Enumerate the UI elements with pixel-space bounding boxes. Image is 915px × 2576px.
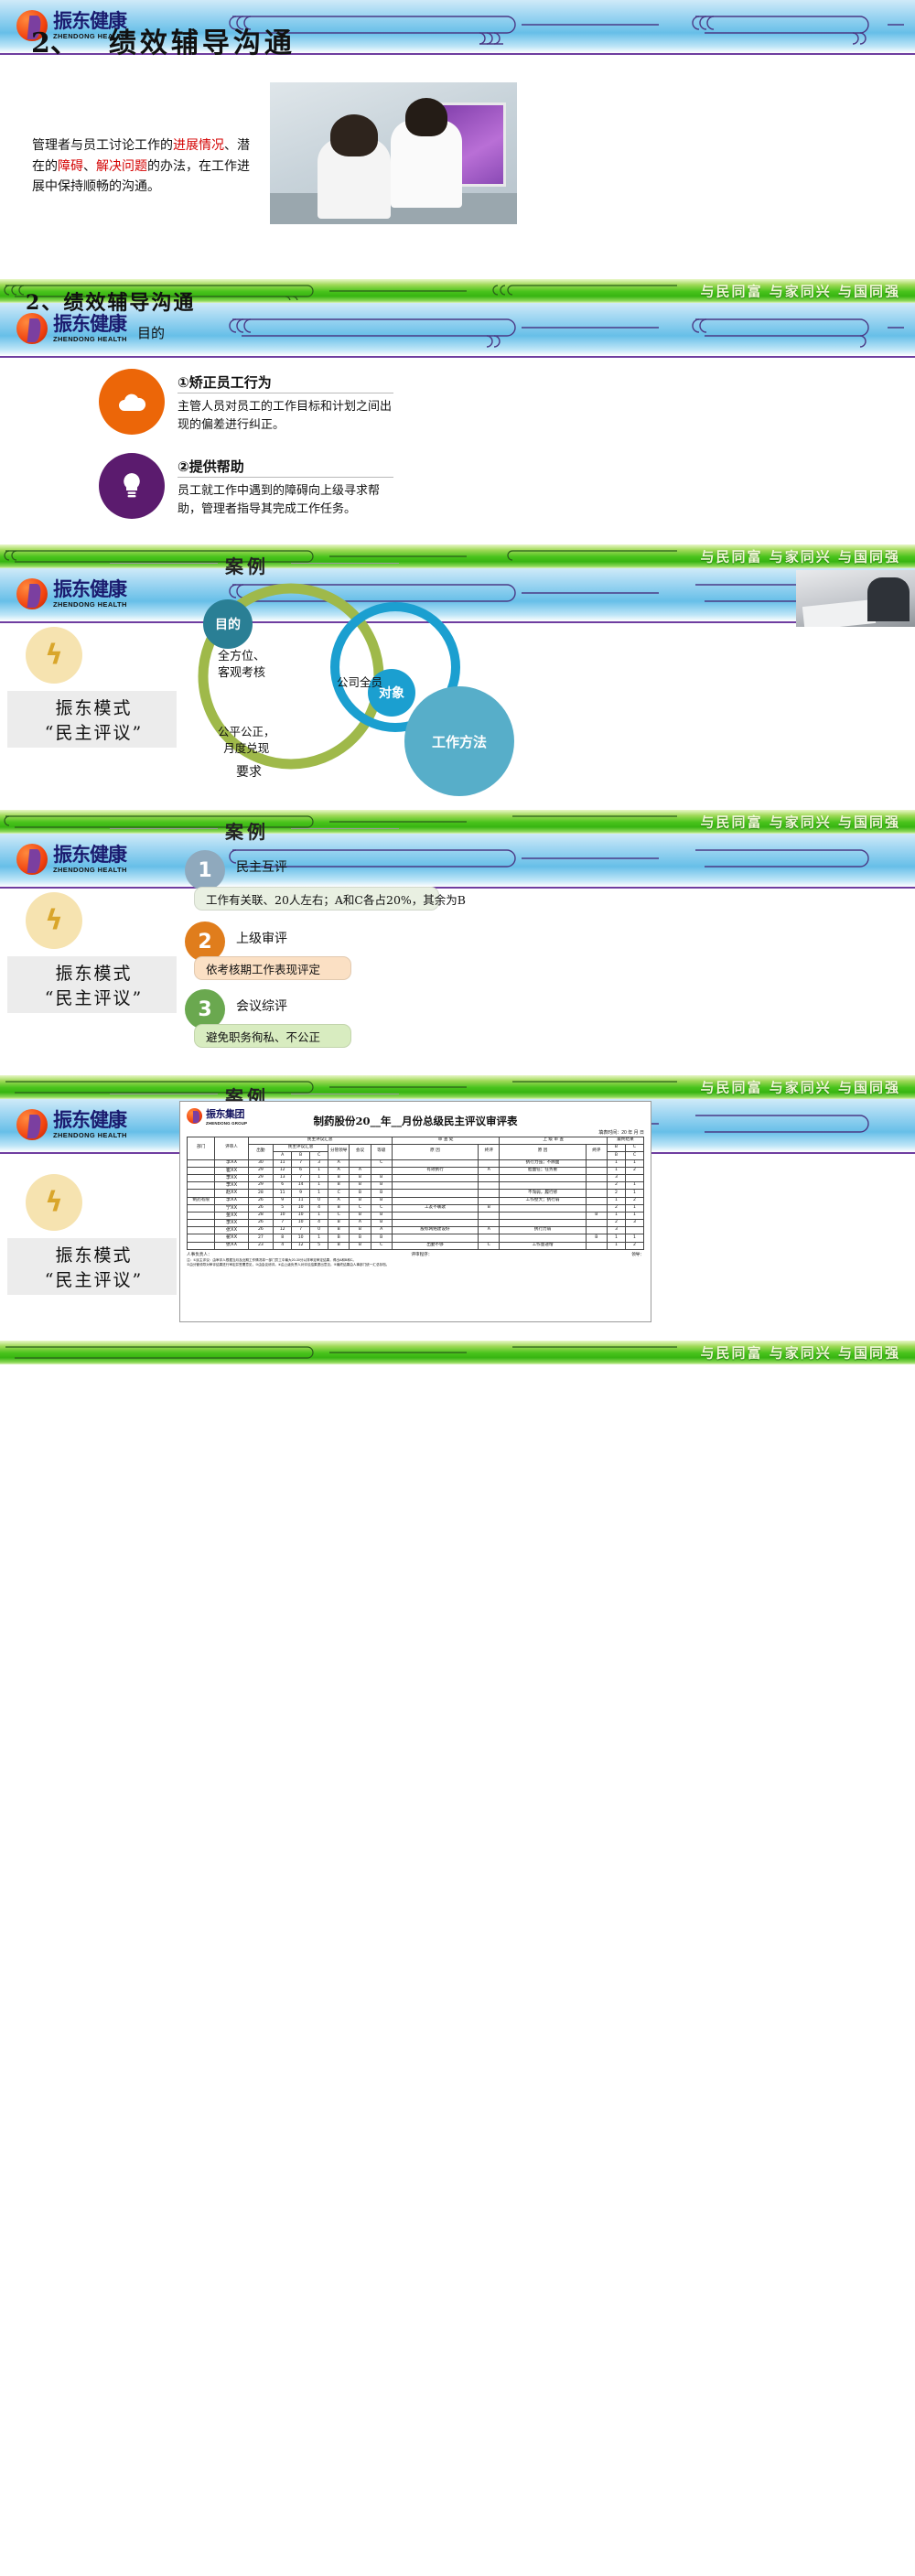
- form-logo-cn: 振东集团: [206, 1106, 247, 1121]
- cell-b: 10: [292, 1204, 310, 1212]
- cell-sup: [586, 1182, 607, 1190]
- slide-1: 振东健康 ZHENDONG HEALTH 2、绩效辅: [0, 0, 915, 279]
- logo-en-text: ZHENDONG HEALTH: [53, 1132, 127, 1139]
- cell-sup: B: [586, 1234, 607, 1242]
- person-back-shape: [391, 120, 462, 208]
- cell-h: B: [350, 1242, 371, 1249]
- cell-c: 3: [310, 1159, 328, 1167]
- cell-audit_reason: [392, 1174, 478, 1181]
- cell-sup: [586, 1242, 607, 1249]
- cell-f2: 1: [625, 1212, 643, 1219]
- cell-cat: B: [371, 1190, 392, 1197]
- th-group-final: 最终结果: [607, 1137, 643, 1145]
- th-dept: 部门: [188, 1137, 215, 1160]
- logo-en-text: ZHENDONG HEALTH: [53, 336, 127, 343]
- cell-f1: 1: [607, 1212, 625, 1219]
- cell-dept: [188, 1167, 215, 1174]
- cell-dept: [188, 1190, 215, 1197]
- th-name: 评审人: [215, 1137, 248, 1160]
- cell-att: 26: [248, 1197, 274, 1204]
- brand-slogan: 与民同富 与家同兴 与国同强: [701, 1343, 900, 1363]
- form-title: 制药股份20__年__月份总级民主评议审评表: [187, 1114, 644, 1128]
- th-final-c: C: [625, 1145, 643, 1152]
- item2-circle: [99, 453, 165, 519]
- cell-c: 0: [310, 1227, 328, 1234]
- method-bubble: 工作方法: [404, 686, 514, 796]
- cell-sup_reason: 胆面任；任务重: [500, 1167, 586, 1174]
- cell-f1: 2: [607, 1190, 625, 1197]
- cell-sup_reason: [500, 1234, 586, 1242]
- cell-audit_reason: 股标网络建设好: [392, 1227, 478, 1234]
- cell-c: 1: [310, 1174, 328, 1181]
- cell-c: 5: [310, 1242, 328, 1249]
- cell-dept: [188, 1204, 215, 1212]
- cell-sup_reason: 不淘弱，履行修: [500, 1190, 586, 1197]
- table-row: 张XX234125BBC出勤不够C工作量递增12: [188, 1242, 644, 1249]
- mode-label: 振东模式 “民主评议”: [9, 956, 178, 1013]
- th-c: C: [310, 1152, 328, 1159]
- table-head: 部门 评审人 民主评议汇总 审 查 处 上 级 审 查 最终结果 出勤 民主评议…: [188, 1137, 644, 1160]
- cell-a: 8: [274, 1234, 292, 1242]
- cell-name: 金XX: [215, 1212, 248, 1219]
- cell-b: 7: [292, 1174, 310, 1181]
- cell-b: 12: [292, 1242, 310, 1249]
- th-manager: 分管领导: [328, 1145, 350, 1159]
- cell-h: B: [350, 1174, 371, 1181]
- ring-label-requirement: 要求: [236, 762, 262, 781]
- slide-footer-bar-5: 与民同富 与家同兴 与国同强: [0, 1341, 915, 1364]
- item2-body: 员工就工作中遇到的障碍向上级寻求帮助，管理者指导其完成工作任务。: [178, 482, 402, 519]
- step-3-heading: 会议综评: [236, 997, 287, 1015]
- cell-sup: [586, 1159, 607, 1167]
- slide-title-text: 绩效辅导沟通: [63, 291, 195, 315]
- table-body: 李XX301173AC执行力强；不顾面11崔XX291261AA有效执行A胆面任…: [188, 1159, 644, 1249]
- step-1-heading: 民主互评: [236, 857, 287, 876]
- cell-cat: B: [371, 1212, 392, 1219]
- cell-dept: [188, 1174, 215, 1181]
- th-category: 等级: [371, 1145, 392, 1159]
- cell-name: 李XX: [215, 1159, 248, 1167]
- cell-f1: 1: [607, 1242, 625, 1249]
- cell-sup_reason: [500, 1212, 586, 1219]
- slide-footer-bar-2: 与民同富 与家同兴 与国同强: [0, 544, 915, 568]
- slide-number: 2、: [31, 27, 78, 59]
- cell-b: 11: [292, 1197, 310, 1204]
- cell-b: 14: [292, 1182, 310, 1190]
- zhendong-logo-icon: [187, 1108, 202, 1124]
- cell-audit: A: [479, 1227, 500, 1234]
- cell-sup_reason: [500, 1174, 586, 1181]
- cell-att: 26: [248, 1204, 274, 1212]
- cell-dept: [188, 1212, 215, 1219]
- form-note-1: 注：①民主评议：由审评人根据当月及近期工作情况将一部门员工中最大20-30分以排…: [187, 1258, 644, 1262]
- case-rule-left: [110, 828, 218, 829]
- case-rule-right: [291, 828, 399, 829]
- cell-sup: [586, 1204, 607, 1212]
- cell-audit: [479, 1182, 500, 1190]
- cell-audit: C: [479, 1242, 500, 1249]
- slide-header-bar: 振东健康 ZHENDONG HEALTH: [0, 834, 915, 889]
- cell-h: B: [350, 1212, 371, 1219]
- logo-cn-text: 振东健康: [53, 315, 127, 334]
- cell-sup: [586, 1197, 607, 1204]
- brand-logo: 振东健康 ZHENDONG HEALTH: [16, 1103, 199, 1147]
- cell-a: 11: [274, 1159, 292, 1167]
- cell-att: 29: [248, 1167, 274, 1174]
- mode-badge: ϟ: [26, 892, 82, 949]
- mode-line-2: “民主评议”: [45, 719, 143, 744]
- cell-c: 4: [310, 1204, 328, 1212]
- cell-audit: B: [479, 1204, 500, 1212]
- page-title: 2、绩效辅导沟通: [26, 286, 195, 316]
- cell-cat: C: [371, 1204, 392, 1212]
- cell-c: 1: [310, 1167, 328, 1174]
- slide-3: 与民同富 与家同兴 与国同强 振东健康 ZHENDONG HEALTH 案例 ϟ: [0, 544, 915, 810]
- th-audit-reason: 原 因: [392, 1145, 478, 1159]
- cell-sup: [586, 1227, 607, 1234]
- cell-att: 27: [248, 1234, 274, 1242]
- paragraph-run-1: 进展情况: [173, 138, 224, 153]
- item1-body: 主管人员对员工的工作目标和计划之间出现的偏差进行纠正。: [178, 398, 402, 435]
- cell-f2: 2: [625, 1242, 643, 1249]
- slide-2: 与民同富 与家同兴 与国同强 振东健康 ZHENDONG HEALTH: [0, 279, 915, 544]
- cell-dept: [188, 1220, 215, 1227]
- cell-cat: B: [371, 1182, 392, 1190]
- cell-h: A: [350, 1167, 371, 1174]
- signing-photo: [796, 570, 915, 627]
- logo-cn-text: 振东健康: [53, 580, 127, 599]
- mode-line-2: “民主评议”: [45, 985, 143, 1009]
- table-row: 宁XX265104BCC工友不联歌B21: [188, 1204, 644, 1212]
- form-date-line: 填表时间：20 年 月 日: [187, 1129, 644, 1136]
- mode-line-1: 振东模式: [55, 1242, 132, 1266]
- paragraph-run-0: 管理者与员工讨论工作的: [32, 138, 173, 153]
- case-rule-left: [110, 563, 218, 564]
- cell-f2: 1: [625, 1204, 643, 1212]
- bolt-icon: ϟ: [45, 640, 63, 672]
- footer-ornament-icon: [0, 1343, 695, 1362]
- cell-sup_reason: [500, 1182, 586, 1190]
- cell-dept: [188, 1182, 215, 1190]
- table-row: 赵XX281191CBB不淘弱，履行修21: [188, 1190, 644, 1197]
- cell-audit: [479, 1159, 500, 1167]
- cell-c: 1: [310, 1182, 328, 1190]
- table-header-row-2: 出勤 民主评议汇总 分管领导 会议 等级 原 因 终评 原 因 终评 B C: [188, 1145, 644, 1152]
- cell-audit: [479, 1234, 500, 1242]
- cell-cat: [371, 1167, 392, 1174]
- th-group-audit: 审 查 处: [392, 1137, 500, 1145]
- th-attendance: 出勤: [248, 1145, 274, 1159]
- cell-c: 0: [310, 1197, 328, 1204]
- ring-label-allstaff: 公司全员: [337, 673, 382, 690]
- case-rule-left: [110, 1094, 218, 1094]
- cell-audit: [479, 1174, 500, 1181]
- cell-audit_reason: 工友不联歌: [392, 1204, 478, 1212]
- cell-cat: A: [371, 1227, 392, 1234]
- cell-audit: [479, 1197, 500, 1204]
- paragraph-run-3: 障碍: [58, 159, 83, 174]
- cell-m: B: [328, 1182, 350, 1190]
- cell-b: 10: [292, 1212, 310, 1219]
- cell-f1: 3: [607, 1227, 625, 1234]
- mode-line-2: “民主评议”: [45, 1266, 143, 1291]
- cell-cat: B: [371, 1220, 392, 1227]
- slide-number: 2、: [26, 291, 63, 315]
- cell-h: A: [350, 1220, 371, 1227]
- item2-heading: ②提供帮助: [178, 457, 244, 476]
- cell-name: 李XX: [215, 1220, 248, 1227]
- cell-f2: 2: [625, 1197, 643, 1204]
- header-ornament-icon: [220, 308, 906, 352]
- table-row: 金XX2810101CBBB11: [188, 1212, 644, 1219]
- cell-name: 崔XX: [215, 1167, 248, 1174]
- cell-att: 28: [248, 1212, 274, 1219]
- cell-h: C: [350, 1204, 371, 1212]
- th-b: B: [292, 1152, 310, 1159]
- cell-a: 7: [274, 1220, 292, 1227]
- cell-cat: B: [371, 1197, 392, 1204]
- cell-f2: 3: [625, 1220, 643, 1227]
- cell-m: C: [328, 1212, 350, 1219]
- logo-cn-text: 振东健康: [53, 1111, 127, 1130]
- cell-h: B: [350, 1234, 371, 1242]
- purpose-item-1: ①矫正员工行为 主管人员对员工的工作目标和计划之间出现的偏差进行纠正。: [99, 369, 483, 453]
- cell-sup: [586, 1220, 607, 1227]
- cell-c: 1: [310, 1234, 328, 1242]
- page-title: 2、绩效辅导沟通: [31, 20, 296, 60]
- mode-label: 振东模式 “民主评议”: [9, 1238, 178, 1295]
- cell-a: 13: [274, 1174, 292, 1181]
- zhendong-logo-icon: [16, 1109, 48, 1140]
- cell-name: 张XX: [215, 1242, 248, 1249]
- step-2-box: 依考核期工作表现评定: [194, 956, 351, 980]
- presentation-deck: 振东健康 ZHENDONG HEALTH 2、绩效辅: [0, 0, 915, 2576]
- paragraph-run-4: 、: [83, 159, 96, 174]
- cloud-icon: [116, 393, 147, 411]
- cell-sup: B: [586, 1212, 607, 1219]
- cell-name: 赵XX: [215, 1190, 248, 1197]
- mode-line-1: 振东模式: [55, 960, 132, 985]
- paragraph-run-5: 解决问题: [96, 159, 147, 174]
- ring-label-assessment: 全方位、客观考核: [218, 649, 265, 682]
- cell-audit_reason: [392, 1220, 478, 1227]
- mode-line-1: 振东模式: [55, 695, 132, 719]
- cell-a: 5: [274, 1204, 292, 1212]
- cell-att: 28: [248, 1190, 274, 1197]
- th-group-sup: 上 级 审 查: [500, 1137, 608, 1145]
- cell-audit: [479, 1212, 500, 1219]
- cell-b: 10: [292, 1220, 310, 1227]
- cell-b: 7: [292, 1227, 310, 1234]
- cell-m: B: [328, 1204, 350, 1212]
- cell-h: B: [350, 1197, 371, 1204]
- brand-slogan: 与民同富 与家同兴 与国同强: [701, 282, 900, 301]
- logo-en-text: ZHENDONG HEALTH: [53, 601, 127, 609]
- zhendong-logo-icon: [16, 844, 48, 875]
- th-sup-reason: 原 因: [500, 1145, 586, 1159]
- bolt-icon: ϟ: [45, 905, 63, 937]
- cell-audit: A: [479, 1167, 500, 1174]
- cell-h: B: [350, 1182, 371, 1190]
- logo-en-text: ZHENDONG HEALTH: [53, 867, 127, 874]
- mode-badge: ϟ: [26, 627, 82, 684]
- cell-audit_reason: [392, 1182, 478, 1190]
- th-sup-final: 终评: [586, 1145, 607, 1159]
- cell-audit_reason: 有效执行: [392, 1167, 478, 1174]
- cell-sup_reason: 执行力弱: [500, 1227, 586, 1234]
- cell-sup: [586, 1174, 607, 1181]
- form-foot-right: 领导：: [631, 1252, 644, 1257]
- step-1-box: 工作有关联、20人左右；A和C各占20%，其余为B: [194, 887, 439, 911]
- slide2-subtitle: 目的: [137, 323, 165, 342]
- bolt-icon: ϟ: [45, 1187, 63, 1219]
- slide-footer-bar-3: 与民同富 与家同兴 与国同强: [0, 810, 915, 834]
- cell-audit_reason: 出勤不够: [392, 1242, 478, 1249]
- cell-f1: 1: [607, 1159, 625, 1167]
- cell-dept: [188, 1242, 215, 1249]
- header-ornament-icon: [220, 839, 906, 883]
- case-title: 案例: [225, 817, 269, 844]
- table-row: 崔XX291261AA有效执行A胆面任；任务重12: [188, 1167, 644, 1174]
- cell-a: 4: [274, 1242, 292, 1249]
- cell-sup: [586, 1167, 607, 1174]
- header-ornament-icon: [220, 5, 906, 49]
- case-rule-right: [291, 1094, 399, 1094]
- cell-sup: [586, 1190, 607, 1197]
- cell-b: 6: [292, 1167, 310, 1174]
- cell-dept: [188, 1159, 215, 1167]
- cell-cat: B: [371, 1174, 392, 1181]
- brand-logo: 振东健康 ZHENDONG HEALTH: [16, 837, 199, 881]
- cell-att: 23: [248, 1242, 274, 1249]
- cell-f1: 3: [607, 1174, 625, 1181]
- th-abc: 民主评议汇总: [274, 1145, 328, 1152]
- cell-f1: 2: [607, 1204, 625, 1212]
- table-row: 李XX267104BAB23: [188, 1220, 644, 1227]
- cell-f2: [625, 1227, 643, 1234]
- cell-att: 30: [248, 1159, 274, 1167]
- brand-logo: 振东健康 ZHENDONG HEALTH: [16, 572, 199, 616]
- cell-m: B: [328, 1220, 350, 1227]
- slide-title-text: 绩效辅导沟通: [109, 27, 296, 59]
- cell-m: B: [328, 1234, 350, 1242]
- lightbulb-icon: [122, 472, 142, 500]
- item1-heading: ①矫正员工行为: [178, 372, 272, 392]
- item1-divider: [178, 393, 393, 393]
- cell-cat: C: [371, 1159, 392, 1167]
- cell-f1: 1: [607, 1234, 625, 1242]
- cell-m: B: [328, 1242, 350, 1249]
- brand-slogan: 与民同富 与家同兴 与国同强: [701, 1078, 900, 1097]
- cell-dept: 制药有限: [188, 1197, 215, 1204]
- table-row: 李XX296141BBB21: [188, 1182, 644, 1190]
- cell-a: 9: [274, 1197, 292, 1204]
- cell-f1: 1: [607, 1167, 625, 1174]
- th-meeting: 会议: [350, 1145, 371, 1159]
- cell-m: B: [328, 1174, 350, 1181]
- cell-f2: 1: [625, 1159, 643, 1167]
- step-3-box: 避免职务徇私、不公正: [194, 1024, 351, 1048]
- purpose-item-2: ②提供帮助 员工就工作中遇到的障碍向上级寻求帮助，管理者指导其完成工作任务。: [99, 453, 483, 537]
- table-row: 张XX261270BBA股标网络建设好A执行力弱3: [188, 1227, 644, 1234]
- slide-footer-bar-4: 与民同富 与家同兴 与国同强: [0, 1075, 915, 1099]
- cell-sup_reason: 执行力强；不顾面: [500, 1159, 586, 1167]
- cell-b: 7: [292, 1159, 310, 1167]
- table-row: 制药有限李XX269110ABB工作壁大；执行弱12: [188, 1197, 644, 1204]
- cell-sup_reason: 工作量递增: [500, 1242, 586, 1249]
- cell-name: 李XX: [215, 1197, 248, 1204]
- form-foot-note-label: 评审程序：: [411, 1252, 432, 1257]
- cell-m: C: [328, 1190, 350, 1197]
- purpose-bubble: 目的: [203, 599, 253, 649]
- cell-att: 26: [248, 1220, 274, 1227]
- cell-f1: 2: [607, 1182, 625, 1190]
- cell-att: 26: [248, 1227, 274, 1234]
- cell-audit: [479, 1220, 500, 1227]
- mode-badge: ϟ: [26, 1174, 82, 1231]
- cell-f2: 1: [625, 1234, 643, 1242]
- ring-label-fairness: 公平公正，月度兑现: [218, 724, 275, 756]
- cell-att: 29: [248, 1182, 274, 1190]
- logo-cn-text: 振东健康: [53, 846, 127, 865]
- cell-dept: [188, 1234, 215, 1242]
- cell-c: 4: [310, 1220, 328, 1227]
- table-row: 翟XX278101BBBB11: [188, 1234, 644, 1242]
- th-final-c2: C: [625, 1152, 643, 1159]
- th-a: A: [274, 1152, 292, 1159]
- cell-name: 翟XX: [215, 1234, 248, 1242]
- case-rule-right: [291, 563, 399, 564]
- cell-m: B: [328, 1227, 350, 1234]
- cell-c: 1: [310, 1212, 328, 1219]
- cell-a: 12: [274, 1167, 292, 1174]
- th-group-summary: 民主评议汇总: [248, 1137, 392, 1145]
- cell-audit_reason: [392, 1212, 478, 1219]
- cell-a: 11: [274, 1190, 292, 1197]
- cell-name: 李XX: [215, 1182, 248, 1190]
- cell-m: A: [328, 1159, 350, 1167]
- cell-audit_reason: [392, 1197, 478, 1204]
- slide1-paragraph: 管理者与员工讨论工作的进展情况、潜在的障碍、解决问题的办法，在工作进展中保持顺畅…: [32, 135, 261, 198]
- cell-b: 9: [292, 1190, 310, 1197]
- form-foot-left: 人事负责人：: [187, 1252, 212, 1257]
- zhendong-logo-icon: [16, 578, 48, 609]
- slide-4: 与民同富 与家同兴 与国同强 振东健康 ZHENDONG HEALTH 案例 ϟ: [0, 810, 915, 1075]
- cell-c: 1: [310, 1190, 328, 1197]
- cell-a: 12: [274, 1227, 292, 1234]
- th-final-b2: B: [607, 1152, 625, 1159]
- item2-divider: [178, 477, 393, 478]
- mode-label: 振东模式 “民主评议”: [9, 691, 178, 748]
- cell-name: 宁XX: [215, 1204, 248, 1212]
- cell-b: 10: [292, 1234, 310, 1242]
- table-header-row-1: 部门 评审人 民主评议汇总 审 查 处 上 级 审 查 最终结果: [188, 1137, 644, 1145]
- brand-slogan: 与民同富 与家同兴 与国同强: [701, 813, 900, 832]
- step-1-number: 1: [185, 850, 225, 890]
- cell-f2: 1: [625, 1190, 643, 1197]
- th-audit-final: 终评: [479, 1145, 500, 1159]
- form-note-2: ②由分管领导对审评结果进行审定并签署意见，③由会议综评。④由上级负责人对评议结果…: [187, 1263, 644, 1266]
- cell-m: A: [328, 1197, 350, 1204]
- cell-f1: 1: [607, 1197, 625, 1204]
- evaluation-form: 振东集团 ZHENDONG GROUP 制药股份20__年__月份总级民主评议审…: [179, 1101, 651, 1322]
- cell-name: 李XX: [215, 1174, 248, 1181]
- cell-sup_reason: [500, 1204, 586, 1212]
- cell-sup_reason: [500, 1220, 586, 1227]
- cell-sup_reason: 工作壁大；执行弱: [500, 1197, 586, 1204]
- cell-a: 10: [274, 1212, 292, 1219]
- cell-dept: [188, 1227, 215, 1234]
